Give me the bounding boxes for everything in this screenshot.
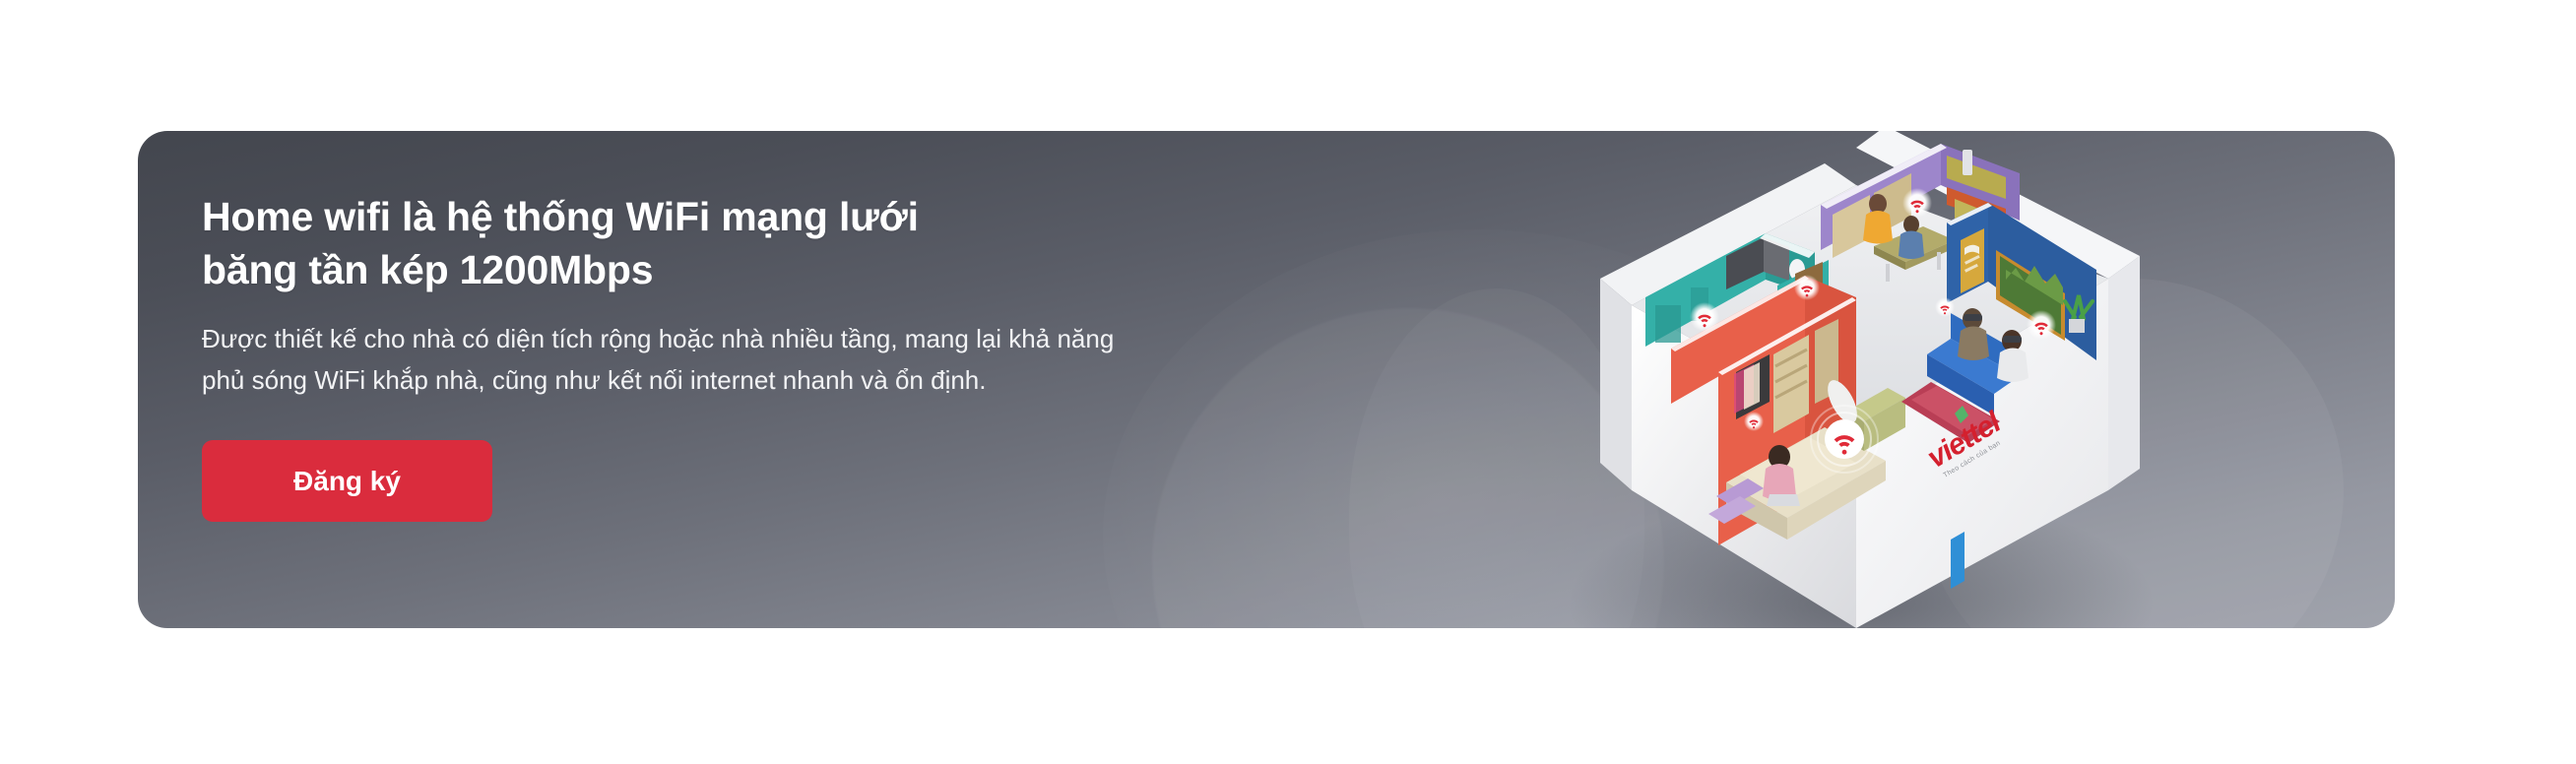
promo-copy-block: Home wifi là hệ thống WiFi mạng lưới băn… <box>202 190 1433 522</box>
promo-headline: Home wifi là hệ thống WiFi mạng lưới băn… <box>202 190 1433 296</box>
promo-description: Được thiết kế cho nhà có diện tích rộng … <box>202 318 1364 401</box>
wall-blue-accent <box>1951 532 1964 589</box>
promo-banner-card: viettel Theo cách của bạn <box>138 131 2395 628</box>
wifi-marker-wardrobe <box>1744 412 1764 431</box>
wifi-marker-storage <box>1794 275 1820 300</box>
screenshot-root: viettel Theo cách của bạn <box>0 0 2576 764</box>
wifi-marker-hallway <box>1935 297 1955 317</box>
register-button[interactable]: Đăng ký <box>202 440 492 522</box>
wifi-marker-bathroom <box>1690 302 1719 332</box>
wifi-marker-living <box>2027 310 2056 340</box>
house-illustration: viettel Theo cách của bạn <box>1561 131 2250 628</box>
wifi-marker-kitchen <box>1902 188 1932 218</box>
